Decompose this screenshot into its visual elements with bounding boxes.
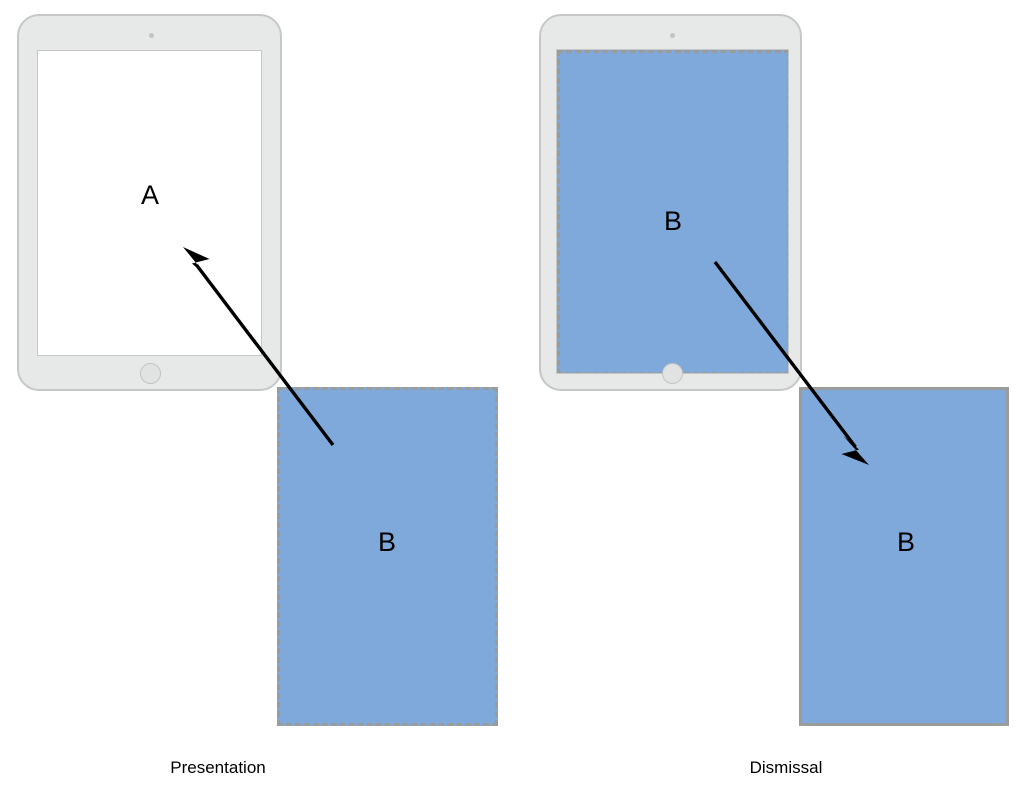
home-button-icon[interactable]: [140, 363, 161, 384]
screen-content-label-b: B: [664, 208, 682, 235]
card-label-b: B: [378, 529, 396, 556]
camera-dot-icon: [670, 33, 675, 38]
camera-dot-icon: [149, 33, 154, 38]
home-button-icon[interactable]: [662, 363, 683, 384]
screen-card-b: B: [557, 50, 789, 374]
caption-presentation: Presentation: [170, 758, 265, 778]
tablet-screen-right: B: [556, 49, 789, 374]
tablet-screen-left: A: [37, 50, 262, 356]
caption-dismissal: Dismissal: [750, 758, 823, 778]
dismissed-card-b: B: [799, 387, 1009, 726]
diagram-canvas: A B Presentation B B Dismissal: [0, 0, 1029, 798]
tablet-device-right: B: [539, 14, 802, 391]
presented-card-b: B: [277, 387, 498, 726]
screen-content-label-a: A: [141, 182, 159, 209]
tablet-device-left: A: [17, 14, 282, 391]
card-label-b: B: [897, 529, 915, 556]
